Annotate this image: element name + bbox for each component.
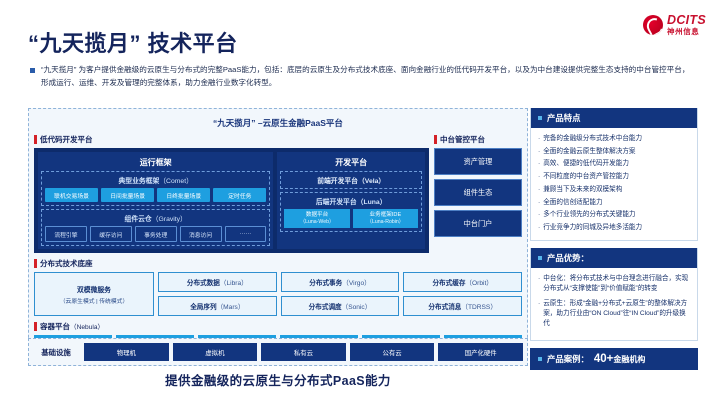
square-marker-icon: [538, 256, 542, 260]
dist-item[interactable]: 全局序列（Mars）: [158, 296, 277, 316]
dist-item-cn: 分布式数据: [187, 280, 220, 287]
dist-item-en: （Libra）: [220, 280, 248, 287]
side-column: 产品特点 ·完备的金融级分布式技术中台能力 ·全面的金融云原生整体解决方案 ·高…: [530, 108, 698, 370]
dist-column: 分布式数据（Libra） 全局序列（Mars）: [158, 272, 277, 316]
feature-item: ·高效、便捷的低代码开发能力: [538, 159, 690, 169]
feature-item: ·兼顾当下及未来的双模架构: [538, 185, 690, 195]
product-cases-bar: 产品案例： 40+金融机构: [530, 348, 698, 370]
feature-item: ·不同粒度的中台资产管控能力: [538, 172, 690, 182]
feature-item: ·全面的金融云原生整体解决方案: [538, 147, 690, 157]
comet-chips: 联机交易场景 日间批量场景 日终批量场景 定时任务: [45, 188, 266, 202]
gravity-box: 组件云仓（Gravity） 流程引擎 缓存访问 事务处理 消息访问 ……: [41, 209, 270, 246]
distributed-base-section: 分布式技术底座 双模微服务 （云原生模式 | 传统模式） 分布式数据（Libra…: [34, 258, 522, 316]
infrastructure-items: 物理机 虚拟机 私有云 公有云 国产化硬件: [84, 343, 523, 361]
dist-columns: 分布式数据（Libra） 全局序列（Mars） 分布式事务（Virgo） 分布式…: [158, 272, 522, 316]
feature-text: 高效、便捷的低代码开发能力: [543, 159, 629, 169]
lowcode-body: 运行框架 典型业务框架（Comet） 联机交易场景 日间批量场景 日终批量场景 …: [34, 148, 429, 253]
dist-item[interactable]: 分布式事务（Virgo）: [281, 272, 400, 292]
feature-item: ·完备的金融级分布式技术中台能力: [538, 134, 690, 144]
infrastructure-item[interactable]: 国产化硬件: [438, 343, 523, 361]
gravity-chip[interactable]: ……: [225, 226, 267, 242]
infrastructure-row: 基础设施 物理机 虚拟机 私有云 公有云 国产化硬件: [28, 338, 528, 366]
dual-mode-title: 双模微服务: [77, 284, 111, 294]
run-framework-head: 运行框架: [41, 155, 270, 171]
feature-text: 全面的信创适配能力: [543, 198, 602, 208]
dist-item-cn: 全局序列: [190, 304, 216, 311]
diagram-top-row: 低代码开发平台 运行框架 典型业务框架（Comet） 联机交易场景 日间批量场景: [34, 134, 522, 253]
mgmt-item[interactable]: 组件生态: [434, 179, 522, 206]
feature-item: ·多个行业领先的分布式关键能力: [538, 210, 690, 220]
square-marker-icon: [538, 116, 542, 120]
dot-icon: ·: [538, 172, 540, 182]
diagram-title: “九天揽月” –云原生金融PaaS平台: [34, 114, 522, 134]
gravity-chips: 流程引擎 缓存访问 事务处理 消息访问 ……: [45, 226, 266, 242]
dist-label-text: 分布式技术底座: [40, 258, 93, 269]
backend-dev-title: 后端开发平台（Luna）: [284, 196, 418, 209]
slide-root: DCITS 神州信息 “九天揽月” 技术平台 “九天揽月” 为客户提供金融级的云…: [0, 0, 720, 405]
advantage-text: 中台化：将分布式技术与中台理念进行融合，实现分布式从“支撑使能”到“价值赋能”的…: [543, 274, 690, 294]
feature-text: 全面的金融云原生整体解决方案: [543, 147, 635, 157]
backend-dev-box: 后端开发平台（Luna） 数据平台 （Luna-Web） 业务框架IDE （Lu…: [280, 192, 422, 232]
feature-text: 不同粒度的中台资产管控能力: [543, 172, 629, 182]
dist-column: 分布式缓存（Orbit） 分布式消息（TDRSS）: [403, 272, 522, 316]
comet-chip[interactable]: 联机交易场景: [45, 188, 98, 202]
red-bar-icon: [434, 135, 437, 144]
feature-text: 完备的金融级分布式技术中台能力: [543, 134, 642, 144]
dot-icon: ·: [538, 147, 540, 157]
product-cases-value: 40+金融机构: [594, 353, 646, 365]
architecture-diagram: “九天揽月” –云原生金融PaaS平台 低代码开发平台 运行框架 典型业务框架（…: [28, 108, 528, 363]
product-advantages-title: 产品优势：: [547, 252, 589, 264]
feature-text: 行业竞争力的同城及异地多活能力: [543, 223, 642, 233]
gravity-chip[interactable]: 事务处理: [135, 226, 177, 242]
dev-platform-head: 开发平台: [280, 155, 422, 171]
lead-text: “九天揽月” 为客户提供金融级的云原生与分布式的完整PaaS能力，包括：底层的云…: [41, 64, 694, 90]
product-cases-label: 产品案例：: [547, 353, 589, 365]
infrastructure-label: 基础设施: [33, 347, 79, 358]
square-marker-icon: [538, 357, 542, 361]
product-features-header: 产品特点: [531, 108, 697, 128]
container-label-cn: 容器平台: [40, 322, 70, 331]
dot-icon: ·: [538, 210, 540, 220]
backend-chip[interactable]: 数据平台 （Luna-Web）: [284, 209, 349, 228]
comet-title-en: （Comet）: [159, 178, 193, 185]
gravity-chip[interactable]: 流程引擎: [45, 226, 87, 242]
dist-item-en: （Virgo）: [342, 280, 370, 287]
backend-chip-en: （Luna-Robin）: [354, 219, 417, 226]
logo-cn: 神州信息: [667, 28, 706, 36]
dcits-swirl-icon: [643, 15, 663, 35]
product-cases-number: 40+: [594, 353, 614, 365]
dist-item[interactable]: 分布式缓存（Orbit）: [403, 272, 522, 292]
comet-chip[interactable]: 定时任务: [213, 188, 266, 202]
footer-tagline: 提供金融级的云原生与分布式PaaS能力: [28, 370, 528, 389]
dot-icon: ·: [538, 185, 540, 195]
dist-item-en: （Orbit）: [465, 280, 492, 287]
feature-item: ·行业竞争力的同城及异地多活能力: [538, 223, 690, 233]
advantage-item: ·云原生：形成“金融+分布式+云原生”的整体解决方案，助力行业由“ON Clou…: [538, 299, 690, 330]
dist-section-label: 分布式技术底座: [34, 258, 522, 269]
gravity-chip[interactable]: 消息访问: [180, 226, 222, 242]
mgmt-label-text: 中台管控平台: [440, 134, 485, 145]
backend-chip-cn: 数据平台: [306, 212, 328, 218]
product-advantages-header: 产品优势：: [531, 248, 697, 268]
red-bar-icon: [34, 322, 37, 331]
run-framework-panel: 运行框架 典型业务框架（Comet） 联机交易场景 日间批量场景 日终批量场景 …: [38, 152, 273, 249]
dot-icon: ·: [538, 134, 540, 144]
dist-item[interactable]: 分布式调度（Sonic）: [281, 296, 400, 316]
dot-icon: ·: [538, 223, 540, 233]
gravity-chip[interactable]: 缓存访问: [90, 226, 132, 242]
mgmt-items: 资产管理 组件生态 中台门户: [434, 148, 522, 237]
feature-item: ·全面的信创适配能力: [538, 198, 690, 208]
dist-item-cn: 分布式调度: [309, 304, 342, 311]
dist-item-cn: 分布式事务: [309, 280, 342, 287]
dist-item[interactable]: 分布式数据（Libra）: [158, 272, 277, 292]
infrastructure-item[interactable]: 物理机: [84, 343, 169, 361]
dot-icon: ·: [538, 274, 540, 294]
mgmt-item[interactable]: 中台门户: [434, 210, 522, 237]
infrastructure-item[interactable]: 虚拟机: [173, 343, 258, 361]
gravity-title: 组件云仓（Gravity）: [45, 213, 266, 226]
comet-title-cn: 典型业务框架: [118, 178, 159, 185]
frontend-dev-platform[interactable]: 前端开发平台（Vela）: [280, 171, 422, 189]
comet-title: 典型业务框架（Comet）: [45, 175, 266, 188]
dist-item-en: （TDRSS）: [461, 304, 497, 311]
advantage-text: 云原生：形成“金融+分布式+云原生”的整体解决方案，助力行业由“ON Cloud…: [543, 299, 690, 330]
dist-item[interactable]: 分布式消息（TDRSS）: [403, 296, 522, 316]
lead-paragraph: “九天揽月” 为客户提供金融级的云原生与分布式的完整PaaS能力，包括：底层的云…: [30, 64, 694, 90]
container-label-text: 容器平台（Nebula）: [40, 321, 104, 332]
company-logo: DCITS 神州信息: [643, 14, 706, 36]
backend-chips: 数据平台 （Luna-Web） 业务框架IDE （Luna-Robin）: [284, 209, 418, 228]
red-bar-icon: [34, 135, 37, 144]
container-label-en: （Nebula）: [70, 324, 104, 331]
dist-body: 双模微服务 （云原生模式 | 传统模式） 分布式数据（Libra） 全局序列（M…: [34, 272, 522, 316]
lowcode-section: 低代码开发平台 运行框架 典型业务框架（Comet） 联机交易场景 日间批量场景: [34, 134, 429, 253]
infrastructure-item[interactable]: 私有云: [261, 343, 346, 361]
dev-platform-panel: 开发平台 前端开发平台（Vela） 后端开发平台（Luna） 数据平台 （Lun…: [277, 152, 425, 249]
dot-icon: ·: [538, 299, 540, 330]
dist-item-cn: 分布式消息: [428, 304, 461, 311]
product-advantages-body: ·中台化：将分布式技术与中台理念进行融合，实现分布式从“支撑使能”到“价值赋能”…: [531, 268, 697, 340]
dist-column: 分布式事务（Virgo） 分布式调度（Sonic）: [281, 272, 400, 316]
advantage-item: ·中台化：将分布式技术与中台理念进行融合，实现分布式从“支撑使能”到“价值赋能”…: [538, 274, 690, 294]
container-section-label: 容器平台（Nebula）: [34, 321, 522, 332]
comet-chip[interactable]: 日终批量场景: [157, 188, 210, 202]
product-features-title: 产品特点: [547, 112, 581, 124]
dot-icon: ·: [538, 198, 540, 208]
mgmt-section-label: 中台管控平台: [434, 134, 522, 145]
dist-item-en: （Mars）: [217, 304, 245, 311]
backend-chip-cn: 业务框架IDE: [370, 212, 402, 218]
infrastructure-item[interactable]: 公有云: [350, 343, 435, 361]
product-cases-unit: 金融机构: [613, 355, 645, 364]
dist-item-cn: 分布式缓存: [432, 280, 465, 287]
comet-chip[interactable]: 日间批量场景: [101, 188, 154, 202]
logo-text: DCITS 神州信息: [667, 14, 706, 36]
mgmt-section: 中台管控平台 资产管理 组件生态 中台门户: [434, 134, 522, 253]
feature-text: 多个行业领先的分布式关键能力: [543, 210, 635, 220]
comet-box: 典型业务框架（Comet） 联机交易场景 日间批量场景 日终批量场景 定时任务: [41, 171, 270, 206]
mgmt-item[interactable]: 资产管理: [434, 148, 522, 175]
gravity-title-en: （Gravity）: [152, 216, 187, 223]
dual-mode-subtitle: （云原生模式 | 传统模式）: [60, 296, 129, 305]
dist-item-en: （Sonic）: [342, 304, 372, 311]
lowcode-section-label: 低代码开发平台: [34, 134, 429, 145]
lowcode-label-text: 低代码开发平台: [40, 134, 93, 145]
page-title: “九天揽月” 技术平台: [28, 26, 238, 58]
square-bullet-icon: [30, 68, 35, 73]
gravity-title-cn: 组件云仓: [125, 216, 152, 223]
feature-text: 兼顾当下及未来的双模架构: [543, 185, 622, 195]
red-bar-icon: [34, 259, 37, 268]
product-features-card: 产品特点 ·完备的金融级分布式技术中台能力 ·全面的金融云原生整体解决方案 ·高…: [530, 108, 698, 241]
backend-chip-en: （Luna-Web）: [285, 219, 348, 226]
product-features-body: ·完备的金融级分布式技术中台能力 ·全面的金融云原生整体解决方案 ·高效、便捷的…: [531, 128, 697, 240]
dot-icon: ·: [538, 159, 540, 169]
backend-chip[interactable]: 业务框架IDE （Luna-Robin）: [353, 209, 418, 228]
dual-mode-microservice[interactable]: 双模微服务 （云原生模式 | 传统模式）: [34, 272, 154, 316]
logo-en: DCITS: [667, 14, 706, 27]
product-advantages-card: 产品优势： ·中台化：将分布式技术与中台理念进行融合，实现分布式从“支撑使能”到…: [530, 248, 698, 341]
